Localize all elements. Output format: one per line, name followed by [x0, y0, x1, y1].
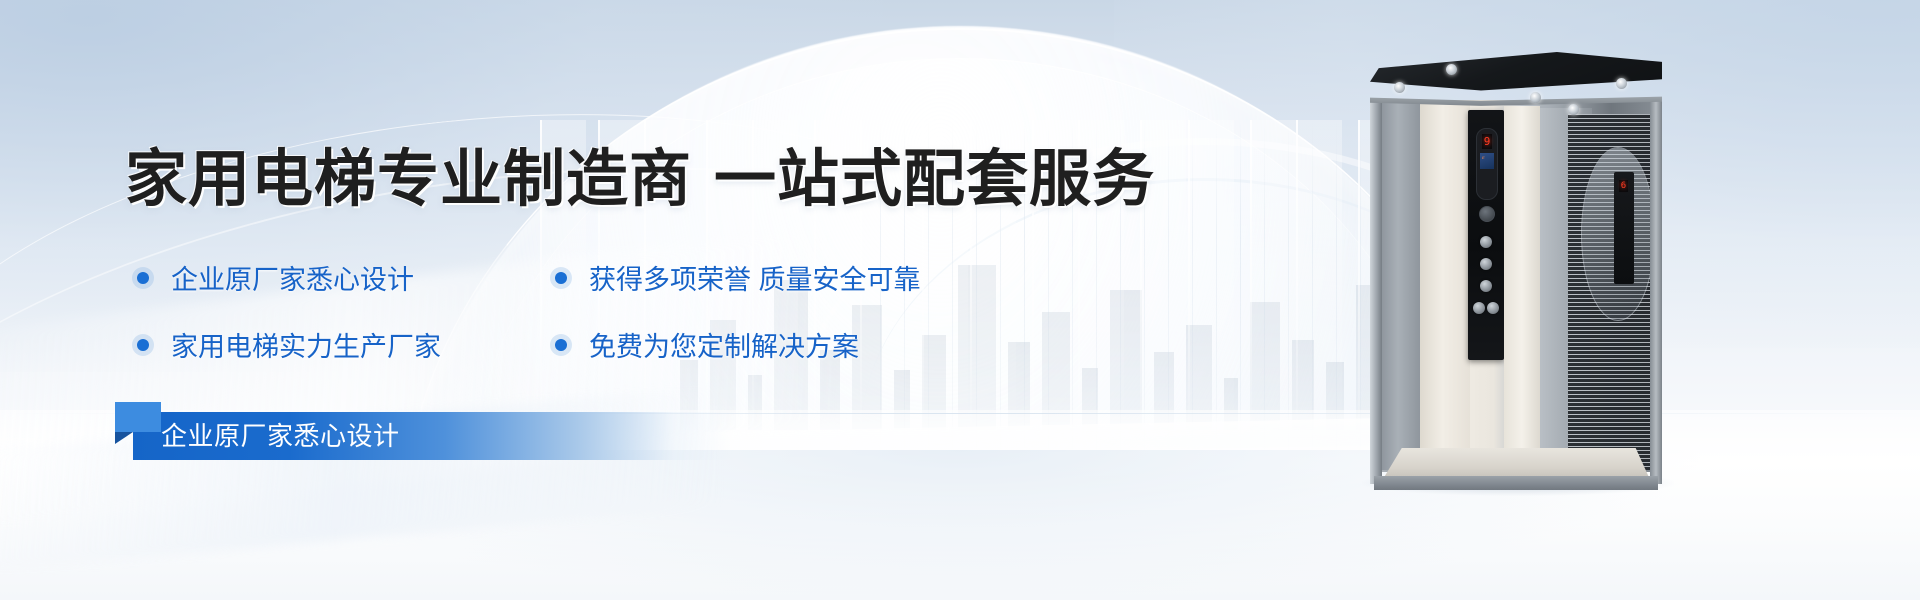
- feature-label: 免费为您定制解决方案: [589, 325, 859, 364]
- list-item: 免费为您定制解决方案: [550, 325, 859, 364]
- glass-pane: [1190, 120, 1234, 450]
- elevator-wall-panel-mid: [1504, 106, 1540, 470]
- elevator-key-switch[interactable]: [1479, 206, 1495, 222]
- elevator-product-image: 9 E 6: [1370, 52, 1662, 492]
- elevator-wall-panel-cream: [1420, 104, 1470, 470]
- elevator-display-housing: 9 E: [1476, 128, 1498, 200]
- ceiling-light-icon: [1446, 64, 1457, 75]
- elevator-frame-post-right: [1650, 98, 1662, 484]
- mirror-reflected-panel: 6: [1614, 172, 1634, 284]
- bullet-dot-icon: [132, 334, 154, 356]
- feature-row: 企业原厂家悉心设计 获得多项荣誉 质量安全可靠: [132, 258, 962, 297]
- page-title: 家用电梯专业制造商一站式配套服务: [125, 128, 1155, 218]
- list-item: 企业原厂家悉心设计: [132, 258, 550, 297]
- ribbon-label: 企业原厂家悉心设计: [161, 412, 400, 460]
- elevator-control-panel[interactable]: 9 E: [1468, 110, 1504, 360]
- elevator-door-open-button[interactable]: [1473, 302, 1485, 314]
- ceiling-light-icon: [1530, 92, 1541, 103]
- headline-part-1: 家用电梯专业制造商: [125, 145, 692, 214]
- floor-indicator-display: 9: [1482, 134, 1492, 149]
- elevator-frame-post-left: [1370, 98, 1382, 484]
- elevator-floor-button[interactable]: [1480, 280, 1492, 292]
- ceiling-light-icon: [1616, 78, 1627, 89]
- glass-pane: [1252, 120, 1296, 450]
- list-item: 家用电梯实力生产厂家: [132, 325, 550, 364]
- lcd-label: E: [1482, 155, 1485, 160]
- elevator-floor-button[interactable]: [1480, 258, 1492, 270]
- mirror-floor-indicator: 6: [1619, 180, 1628, 192]
- feature-label: 企业原厂家悉心设计: [171, 258, 414, 297]
- promo-banner: 家用电梯专业制造商一站式配套服务 企业原厂家悉心设计 获得多项荣誉 质量安全可靠…: [0, 0, 1920, 600]
- bullet-dot-icon: [550, 267, 572, 289]
- bullet-dot-icon: [550, 334, 572, 356]
- elevator-wall-panel-left: [1376, 102, 1420, 470]
- bullet-dot-icon: [132, 267, 154, 289]
- feature-label: 家用电梯实力生产厂家: [171, 325, 441, 364]
- elevator-mirror-wall: 6: [1568, 114, 1656, 470]
- highlight-ribbon: 企业原厂家悉心设计: [133, 412, 733, 460]
- elevator-door-close-button[interactable]: [1487, 302, 1499, 314]
- headline-part-2: 一站式配套服务: [714, 145, 1155, 214]
- ceiling-light-icon: [1394, 82, 1405, 93]
- glass-pane: [1298, 120, 1342, 450]
- ribbon-tab-icon: [115, 402, 161, 432]
- feature-list: 企业原厂家悉心设计 获得多项荣誉 质量安全可靠 家用电梯实力生产厂家 免费为您定…: [132, 258, 962, 392]
- elevator-floor-button[interactable]: [1480, 236, 1492, 248]
- feature-label: 获得多项荣誉 质量安全可靠: [589, 258, 921, 297]
- elevator-cabin-base: [1374, 476, 1658, 490]
- feature-row: 家用电梯实力生产厂家 免费为您定制解决方案: [132, 325, 962, 364]
- elevator-lcd-screen: E: [1480, 153, 1494, 169]
- ceiling-light-icon: [1568, 104, 1579, 115]
- banner-content: 家用电梯专业制造商一站式配套服务 企业原厂家悉心设计 获得多项荣誉 质量安全可靠…: [0, 0, 1100, 600]
- list-item: 获得多项荣誉 质量安全可靠: [550, 258, 921, 297]
